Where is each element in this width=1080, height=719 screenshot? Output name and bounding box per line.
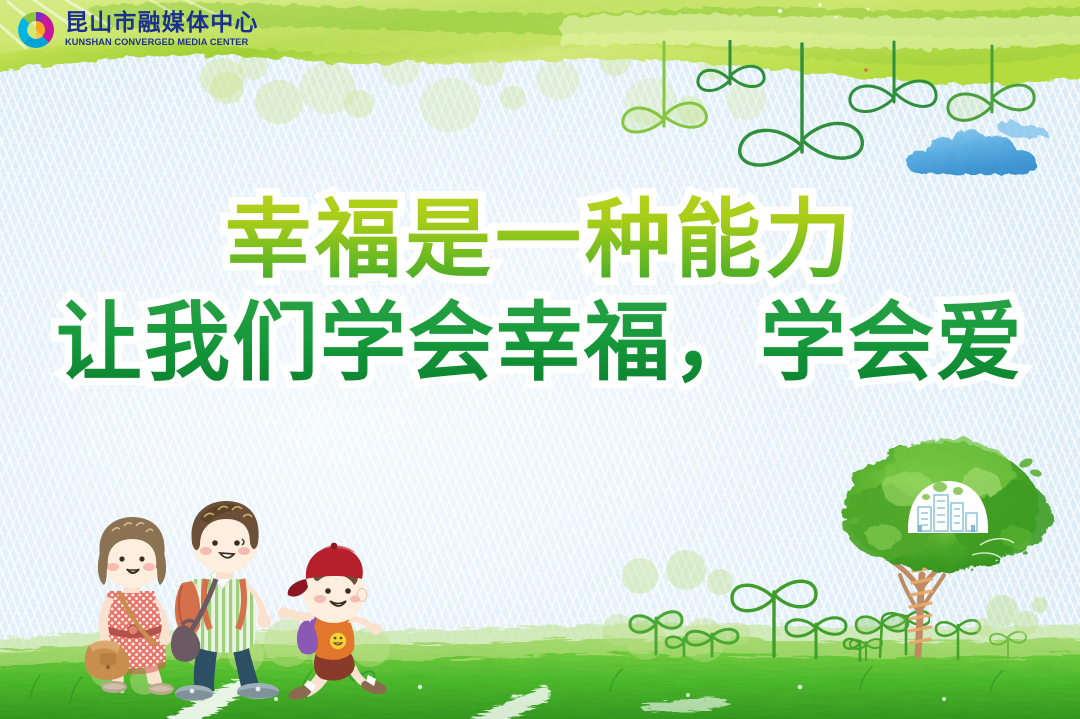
hanging-sprout-icon (623, 42, 707, 132)
sprout-icon (666, 637, 684, 656)
logo-title-en: KUNSHAN CONVERGED MEDIA CENTER (65, 38, 253, 48)
sprout-icon (732, 581, 816, 656)
figure-father (171, 501, 279, 701)
figure-mother (85, 517, 174, 695)
logo-text-block: 昆山市融媒体中心 KUNSHAN CONVERGED MEDIA CENTER (65, 12, 259, 48)
hanging-sprout-icon (740, 44, 863, 165)
hanging-sprout-icon (948, 46, 1034, 120)
hanging-sprout-icon (698, 40, 764, 91)
bokeh-cluster (602, 550, 751, 662)
family-illustration (82, 495, 412, 719)
kunshan-media-swirl-logo-icon (14, 8, 58, 52)
cloud-icon (900, 118, 1040, 182)
tree-illustration (830, 425, 1070, 665)
logo-title-cn: 昆山市融媒体中心 (65, 12, 259, 35)
hanging-sprout-icon (850, 42, 936, 112)
site-logo[interactable]: 昆山市融媒体中心 KUNSHAN CONVERGED MEDIA CENTER (14, 8, 259, 52)
poster-canvas: 幸福是一种能力 幸福是一种能力 让我们学会幸福，学会爱 让我们学会幸福，学会爱 (0, 0, 1080, 719)
